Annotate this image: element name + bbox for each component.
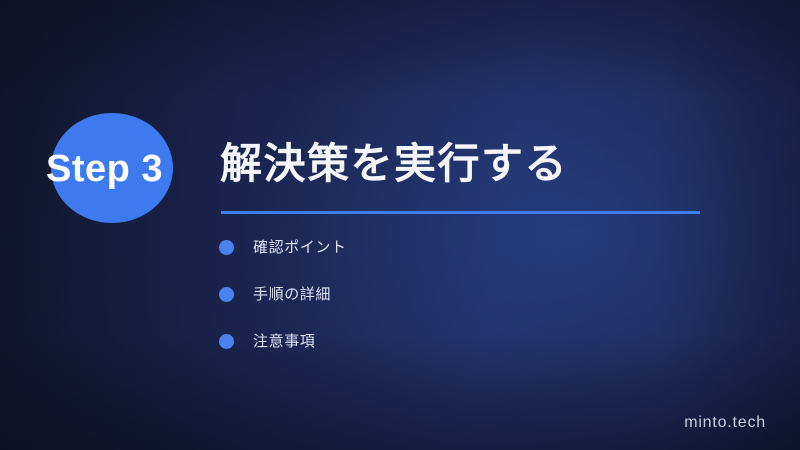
list-item: 注意事項 bbox=[219, 330, 639, 353]
footer-brand: minto.tech bbox=[684, 414, 766, 432]
list-item-label: 手順の詳細 bbox=[253, 283, 331, 306]
list-item-label: 確認ポイント bbox=[253, 236, 347, 259]
step-badge-label: Step 3 bbox=[46, 146, 216, 192]
presentation-slide: Step 3 解決策を実行する 確認ポイント 手順の詳細 注意事項 minto.… bbox=[0, 0, 800, 450]
slide-title: 解決策を実行する bbox=[220, 143, 568, 185]
slide-background-vignette bbox=[0, 0, 800, 450]
list-item: 確認ポイント bbox=[219, 236, 639, 259]
list-item-label: 注意事項 bbox=[253, 330, 315, 353]
bullet-dot-icon bbox=[219, 287, 234, 302]
title-divider bbox=[221, 211, 700, 214]
bullet-list: 確認ポイント 手順の詳細 注意事項 bbox=[219, 236, 639, 377]
bullet-dot-icon bbox=[219, 240, 234, 255]
list-item: 手順の詳細 bbox=[219, 283, 639, 306]
bullet-dot-icon bbox=[219, 334, 234, 349]
